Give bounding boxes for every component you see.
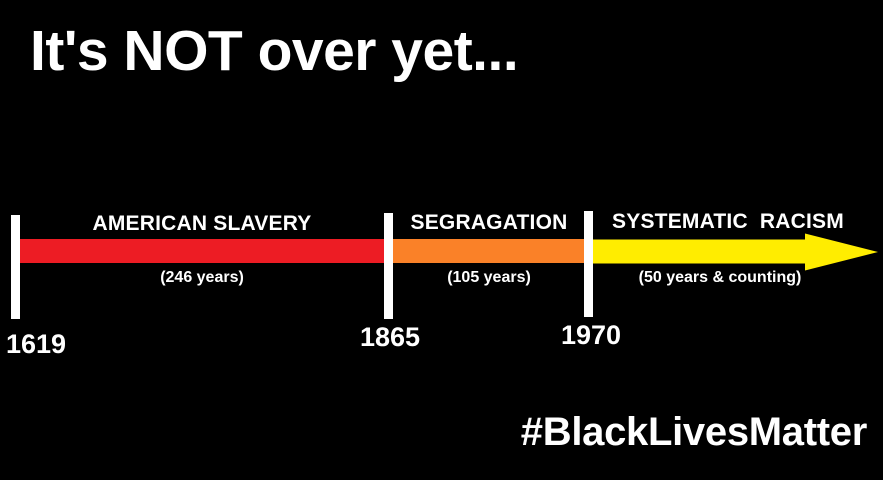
timeline-year-label-1865: 1865 (360, 324, 420, 351)
timeline-year-label-1970: 1970 (561, 322, 621, 349)
segment-duration-segragation: (105 years) (392, 270, 586, 286)
segment-label-segragation: SEGRAGATION (392, 212, 586, 233)
segment-duration-systematic-racism: (50 years & counting) (600, 270, 840, 286)
timeline-bar-segragation (392, 239, 585, 263)
timeline-chart: AMERICAN SLAVERY SEGRAGATION SYSTEMATIC … (0, 0, 883, 480)
poster-canvas: It's NOT over yet... AMERICAN SLAVERY SE… (0, 0, 883, 480)
hashtag-blacklivesmatter: #BlackLivesMatter (521, 412, 867, 452)
segment-label-systematic-racism: SYSTEMATIC RACISM (592, 211, 864, 232)
segment-label-american-slavery: AMERICAN SLAVERY (18, 213, 386, 234)
timeline-year-label-1619: 1619 (6, 331, 66, 358)
timeline-bar-american-slavery (18, 239, 385, 263)
segment-duration-american-slavery: (246 years) (18, 270, 386, 286)
